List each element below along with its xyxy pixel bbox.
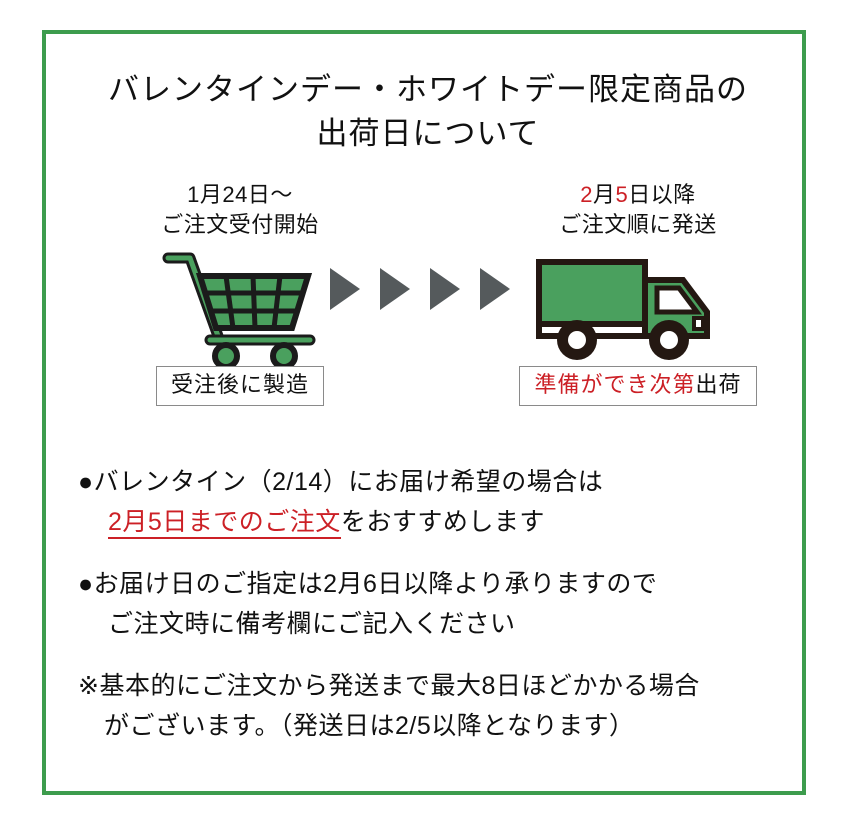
note-valentine-line2-tail: をおすすめします	[341, 508, 545, 536]
note-lead-time-line2: がございます。（発送日は2/5以降となります）	[78, 706, 794, 746]
shopping-cart-icon	[160, 248, 320, 366]
step-order-heading-line1: 1月24日〜	[110, 180, 370, 210]
note-valentine-line1: ●バレンタイン（2/14）にお届け希望の場合は	[78, 462, 794, 502]
step-order-heading: 1月24日〜 ご注文受付開始	[110, 180, 370, 240]
tag-made-after-order-text: 受注後に製造	[171, 372, 309, 397]
note-lead-time: ※基本的にご注文から発送まで最大8日ほどかかる場合 がございます。（発送日は2/…	[78, 666, 794, 746]
tag-ship-when-ready: 準備ができ次第出荷	[519, 366, 756, 406]
note-valentine-delivery: ●バレンタイン（2/14）にお届け希望の場合は 2月5日までのご注文をおすすめし…	[78, 462, 794, 542]
tag-made-after-order: 受注後に製造	[156, 366, 324, 406]
progress-arrows	[330, 268, 510, 310]
delivery-truck-icon	[531, 248, 746, 366]
step-order-heading-line2: ご注文受付開始	[110, 210, 370, 240]
notes-list: ●バレンタイン（2/14）にお届け希望の場合は 2月5日までのご注文をおすすめし…	[78, 462, 794, 746]
note-valentine-deadline: 2月5日までのご注文	[108, 508, 341, 539]
infographic-page: バレンタインデー・ホワイトデー限定商品の 出荷日について 1月24日〜 ご注文受…	[0, 0, 855, 833]
step-shipping-heading-line2: ご注文順に発送	[508, 210, 768, 240]
step-shipping-heading: 2月5日以降 ご注文順に発送	[508, 180, 768, 240]
page-title-line2: 出荷日について	[60, 112, 796, 156]
arrow-right-icon-2	[380, 268, 410, 310]
page-title-line1: バレンタインデー・ホワイトデー限定商品の	[108, 72, 748, 107]
arrow-right-icon-3	[430, 268, 460, 310]
note-delivery-line1: ●お届け日のご指定は2月6日以降より承りますので	[78, 564, 794, 604]
note-lead-time-line1-text: 基本的にご注文から発送まで最大8日ほどかかる場合	[99, 672, 699, 700]
delivery-truck-icon-wrap	[508, 248, 768, 366]
note-valentine-line2: 2月5日までのご注文をおすすめします	[78, 502, 794, 542]
note-delivery-date-request: ●お届け日のご指定は2月6日以降より承りますので ご注文時に備考欄にご記入くださ…	[78, 564, 794, 644]
step-shipping-start: 2月5日以降 ご注文順に発送 準備	[508, 180, 768, 406]
arrow-right-icon-4	[480, 268, 510, 310]
shipping-day-number: 5	[616, 182, 629, 207]
step-shipping-heading-line1: 2月5日以降	[508, 180, 768, 210]
bullet-marker: ●	[78, 468, 94, 496]
note-delivery-line1-text: お届け日のご指定は2月6日以降より承りますので	[94, 570, 658, 598]
bullet-marker: ●	[78, 570, 94, 598]
note-valentine-line1-text: バレンタイン（2/14）にお届け希望の場合は	[94, 468, 604, 496]
arrow-right-icon-1	[330, 268, 360, 310]
page-title: バレンタインデー・ホワイトデー限定商品の 出荷日について	[60, 68, 796, 156]
tag-ship-when-ready-red: 準備ができ次第	[534, 372, 695, 397]
tag-ship-when-ready-black: 出荷	[696, 372, 742, 397]
note-delivery-line2: ご注文時に備考欄にご記入ください	[78, 604, 794, 644]
shipping-day-suffix: 日以降	[628, 182, 696, 207]
shipping-month-unit: 月	[593, 182, 616, 207]
asterisk-marker: ※	[78, 672, 99, 700]
note-lead-time-line1: ※基本的にご注文から発送まで最大8日ほどかかる場合	[78, 666, 794, 706]
shipping-month-number: 2	[580, 182, 593, 207]
